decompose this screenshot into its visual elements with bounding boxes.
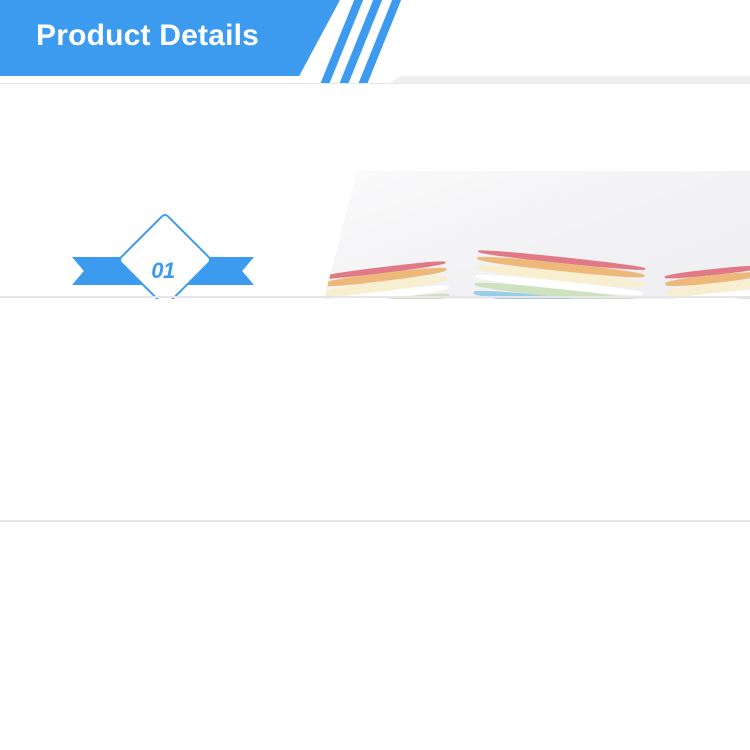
panel-divider-1 bbox=[0, 296, 750, 298]
feature-number: 01 bbox=[68, 258, 258, 284]
product-details-infographic: Product Details bbox=[0, 0, 750, 750]
header: Product Details bbox=[0, 0, 750, 84]
header-divider bbox=[0, 83, 750, 84]
feature-panel-soft: 01 soft bbox=[0, 85, 750, 297]
feature-panel-breathable: 02 breathable bbox=[0, 299, 750, 521]
panel-divider-2 bbox=[0, 520, 750, 522]
page-title: Product Details bbox=[36, 19, 259, 53]
feature-panel-velcro: 03 adjustable velcro bbox=[0, 523, 750, 750]
